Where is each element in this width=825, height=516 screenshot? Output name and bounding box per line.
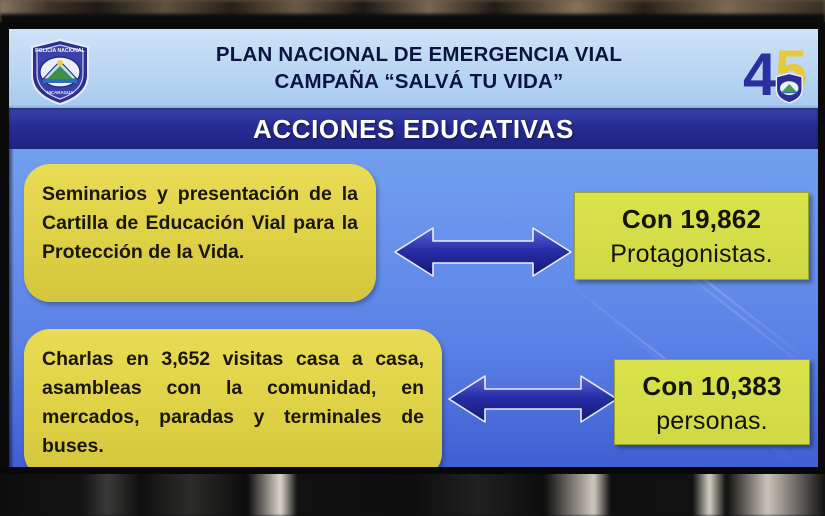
svg-text:NICARAGUA: NICARAGUA [47, 90, 75, 95]
slide-header: POLICIA NACIONAL NICARAGUA 4 5 PLAN NACI… [9, 29, 818, 107]
section-title-band: ACCIONES EDUCATIVAS [9, 108, 818, 149]
double-headed-arrow-icon [393, 222, 573, 282]
police-shield-crest-icon: POLICIA NACIONAL NICARAGUA [29, 39, 91, 105]
svg-text:POLICIA NACIONAL: POLICIA NACIONAL [35, 48, 85, 54]
result-box-1: Con 19,862 Protagonistas. [574, 192, 809, 280]
tv-bezel-left [0, 22, 9, 472]
result-box-2: Con 10,383 personas. [614, 359, 810, 445]
result-headline-1: Con 19,862 [575, 201, 808, 237]
result-headline-2: Con 10,383 [615, 368, 809, 404]
statement-text-1: Seminarios y presentación de la Cartilla… [42, 180, 358, 267]
screenshot-root: POLICIA NACIONAL NICARAGUA 4 5 PLAN NACI… [0, 0, 825, 516]
header-title-line-1: PLAN NACIONAL DE EMERGENCIA VIAL [119, 41, 719, 68]
presentation-slide: POLICIA NACIONAL NICARAGUA 4 5 PLAN NACI… [9, 29, 818, 467]
section-title: ACCIONES EDUCATIVAS [9, 111, 818, 147]
header-title-line-2: CAMPAÑA “SALVÁ TU VIDA” [119, 68, 719, 95]
tv-bezel-bottom [0, 466, 825, 474]
result-subtext-1: Protagonistas. [575, 237, 808, 271]
double-headed-arrow-icon [447, 369, 619, 429]
svg-text:4: 4 [743, 41, 777, 108]
statement-box-1: Seminarios y presentación de la Cartilla… [24, 164, 376, 302]
slide-header-titles: PLAN NACIONAL DE EMERGENCIA VIAL CAMPAÑA… [119, 41, 719, 95]
45-anniversary-logo-icon: 4 5 [737, 33, 818, 111]
statement-text-2: Charlas en 3,652 visitas casa a casa, as… [42, 345, 424, 461]
result-subtext-2: personas. [615, 404, 809, 438]
room-background-bottom-blur [0, 470, 825, 516]
tv-bezel-right [818, 22, 825, 472]
statement-box-2: Charlas en 3,652 visitas casa a casa, as… [24, 329, 442, 467]
